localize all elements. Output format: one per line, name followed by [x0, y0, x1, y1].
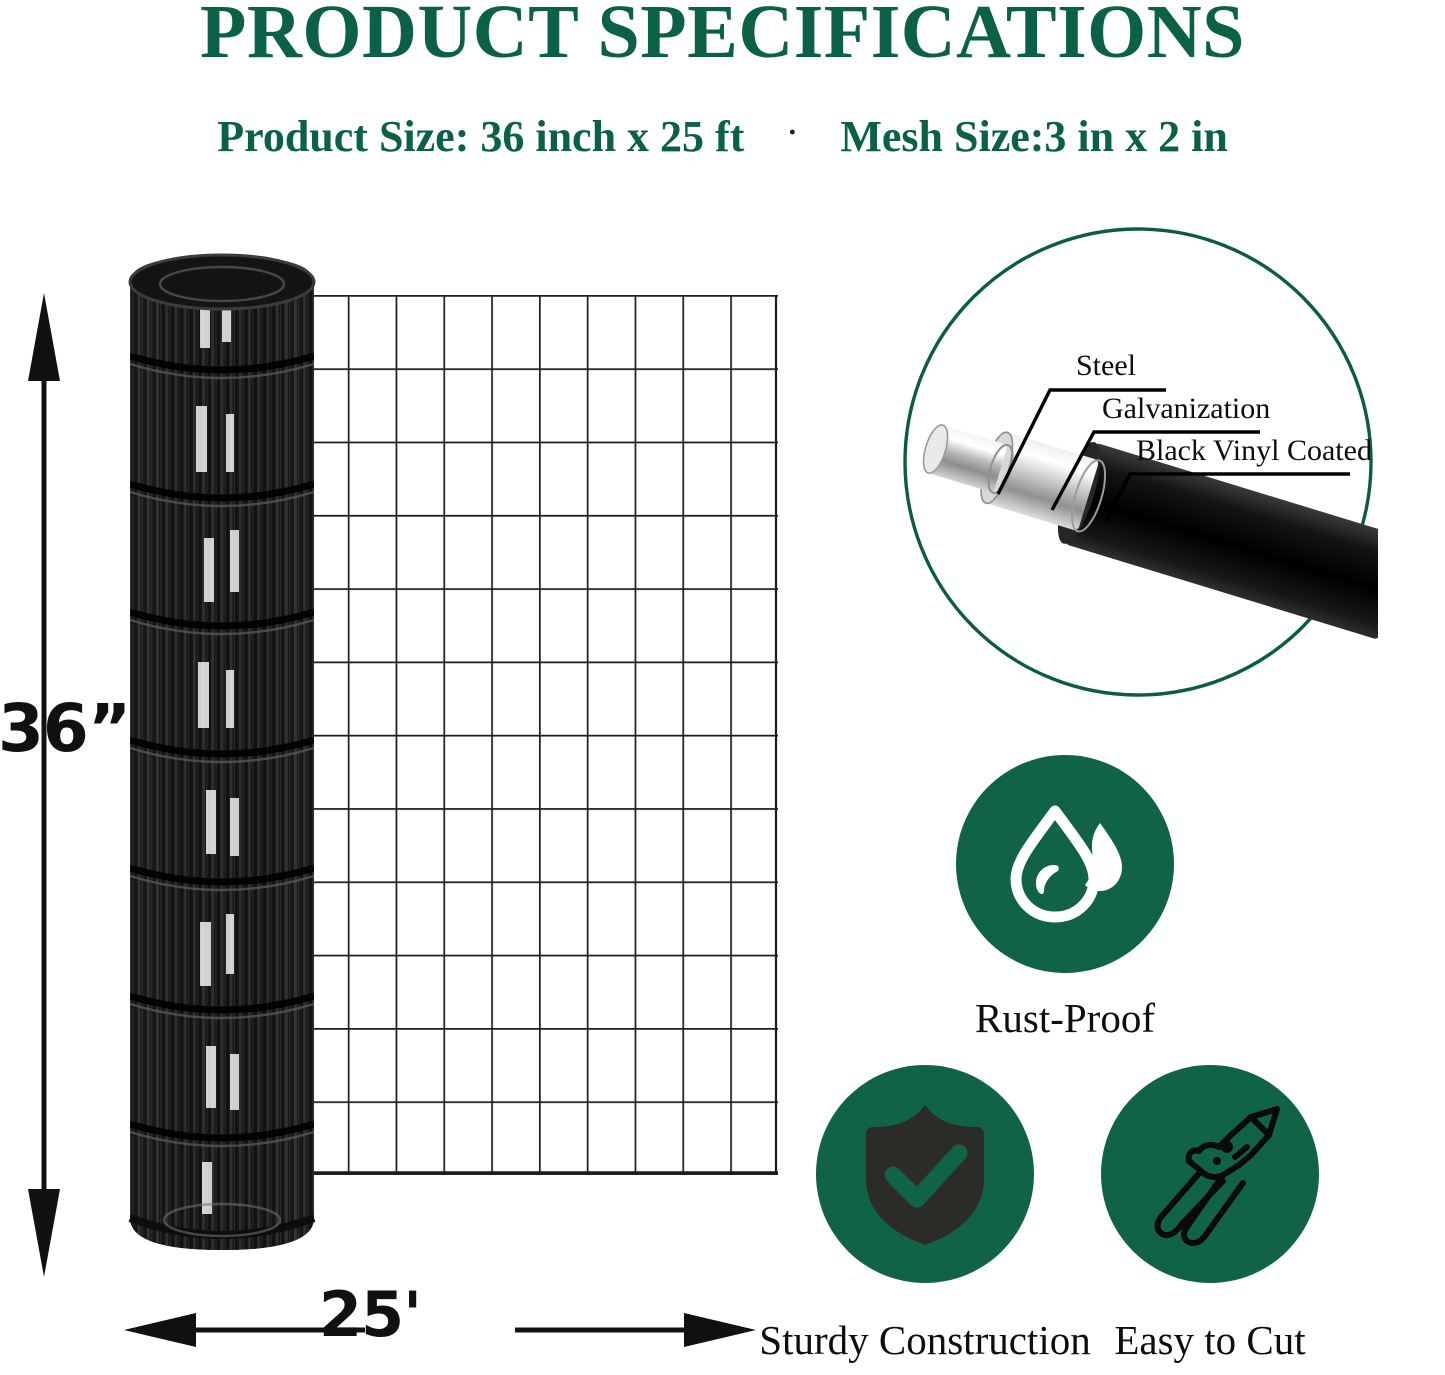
- width-dimension-arrow: [120, 1285, 760, 1375]
- badge-label: Sturdy Construction: [759, 1320, 1090, 1361]
- product-illustration: 36”: [0, 200, 820, 1360]
- label-galvanization: Galvanization: [1102, 392, 1270, 425]
- wire-construction-diagram: Steel Galvanization Black Vinyl Coated: [898, 222, 1378, 702]
- badge-sturdy-construction: Sturdy Construction: [800, 1065, 1050, 1283]
- mesh-size-text: Mesh Size:3 in x 2 in: [840, 115, 1227, 159]
- width-dimension-label: 25': [300, 1278, 440, 1351]
- water-droplet-icon: [1000, 799, 1130, 929]
- height-dimension-arrow: [0, 285, 110, 1285]
- welded-wire-mesh-sheet: [300, 295, 778, 1175]
- badge-label: Easy to Cut: [1114, 1320, 1305, 1361]
- feature-badges: Rust-Proof Sturdy Construction: [800, 755, 1445, 1360]
- page-title: PRODUCT SPECIFICATIONS: [0, 0, 1445, 70]
- badge-circle: [816, 1065, 1034, 1283]
- pliers-icon: [1131, 1095, 1289, 1253]
- badge-rust-proof: Rust-Proof: [940, 755, 1190, 973]
- label-steel: Steel: [1076, 349, 1136, 382]
- badge-circle: [956, 755, 1174, 973]
- badge-easy-to-cut: Easy to Cut: [1085, 1065, 1335, 1283]
- label-black-vinyl-coated: Black Vinyl Coated: [1136, 434, 1372, 467]
- spec-summary-row: Product Size: 36 inch x 25 ft · Mesh Siz…: [0, 115, 1445, 159]
- spec-separator-dot: ·: [744, 118, 840, 148]
- badge-circle: [1101, 1065, 1319, 1283]
- shield-check-icon: [855, 1099, 995, 1249]
- product-size-text: Product Size: 36 inch x 25 ft: [217, 115, 744, 159]
- badge-label: Rust-Proof: [975, 998, 1155, 1039]
- black-vinyl-coated-wire-roll: [126, 238, 318, 1268]
- height-dimension-label: 36”: [0, 690, 106, 767]
